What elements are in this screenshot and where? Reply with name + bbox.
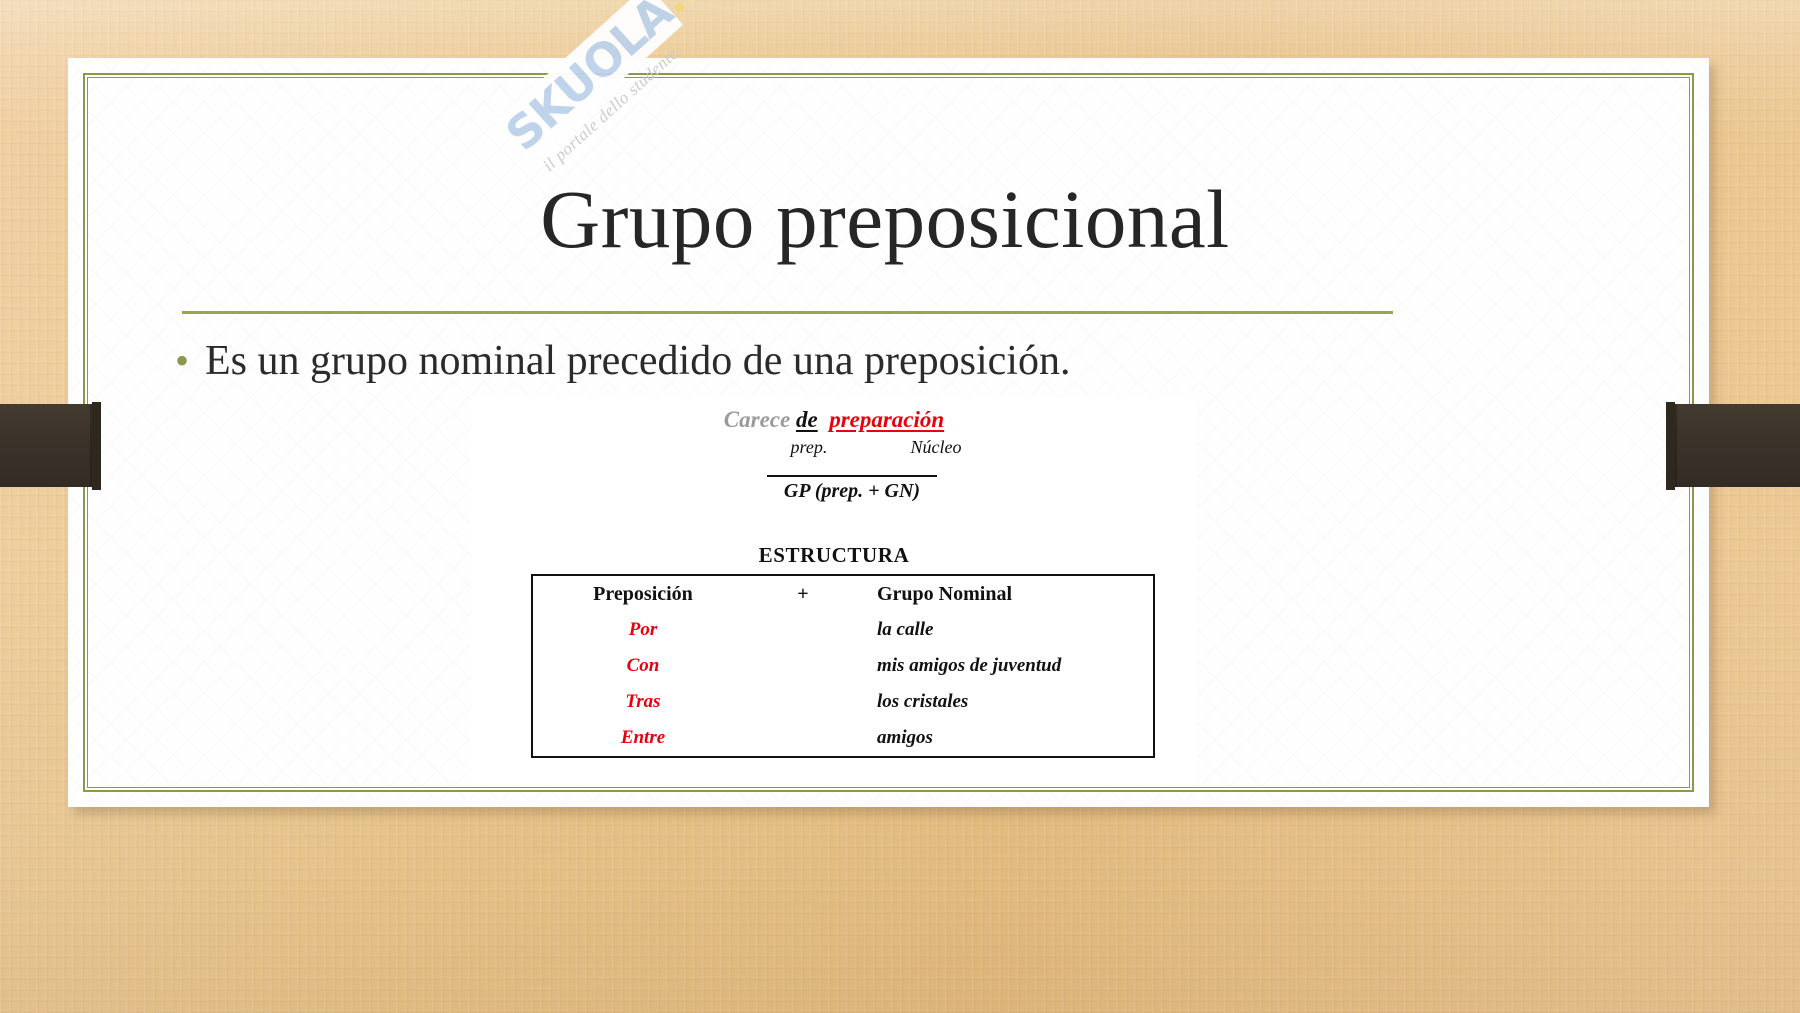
table-row: Con mis amigos de juventud	[532, 648, 1154, 684]
column-header-preposition: Preposición	[532, 575, 753, 612]
structure-table: Preposición + Grupo Nominal Por la calle…	[531, 574, 1155, 758]
cell-preposition: Con	[532, 648, 753, 684]
analysis-labels: prep.Núcleo	[471, 437, 1197, 458]
table-header-row: Preposición + Grupo Nominal	[532, 575, 1154, 612]
cell-noun-group: los cristales	[853, 684, 1154, 720]
page-title: Grupo preposicional	[195, 176, 1575, 263]
column-header-grupo-nominal: Grupo Nominal	[853, 575, 1154, 612]
table-row: Entre amigos	[532, 720, 1154, 757]
watermark-brand-net: net	[659, 0, 757, 13]
bullet-marker-icon: •	[175, 338, 189, 384]
column-header-plus: +	[753, 575, 853, 612]
watermark-brand-dot: .	[647, 0, 695, 25]
analysis-label-prep: prep.	[707, 437, 911, 458]
analysis-word-preposition: de	[796, 407, 818, 432]
slide-canvas: SKUOLA.net il portale dello studente Gru…	[0, 0, 1800, 1013]
sentence-analysis-block: Carece de preparación prep.Núcleo	[471, 407, 1197, 458]
cell-noun-group: amigos	[853, 720, 1154, 757]
bullet-item-text: Es un grupo nominal precedido de una pre…	[205, 336, 1070, 386]
cell-plus	[753, 720, 853, 757]
decorative-ribbon-left-tab	[92, 402, 101, 490]
analysis-bracket-line	[767, 475, 937, 477]
analysis-bracket-group: GP (prep. + GN)	[767, 475, 937, 503]
cell-plus	[753, 684, 853, 720]
decorative-ribbon-right-tab	[1666, 402, 1675, 490]
cell-plus	[753, 612, 853, 648]
title-underline-rule	[182, 311, 1393, 314]
embedded-diagram-image: Carece de preparación prep.Núcleo GP (pr…	[471, 397, 1197, 786]
decorative-ribbon-right	[1667, 404, 1800, 487]
cell-plus	[753, 648, 853, 684]
analysis-word-carece: Carece	[724, 407, 790, 432]
analysis-label-nucleus: Núcleo	[911, 437, 962, 458]
decorative-ribbon-left	[0, 404, 100, 487]
cell-noun-group: mis amigos de juventud	[853, 648, 1154, 684]
cell-noun-group: la calle	[853, 612, 1154, 648]
cell-preposition: Entre	[532, 720, 753, 757]
structure-table-body: Preposición + Grupo Nominal Por la calle…	[532, 575, 1154, 757]
table-row: Tras los cristales	[532, 684, 1154, 720]
bullet-list-item: • Es un grupo nominal precedido de una p…	[175, 336, 1475, 386]
structure-heading: ESTRUCTURA	[471, 543, 1197, 568]
analysis-sentence: Carece de preparación	[471, 407, 1197, 433]
analysis-bracket-label: GP (prep. + GN)	[767, 480, 937, 503]
analysis-word-nucleus: preparación	[829, 407, 944, 432]
cell-preposition: Por	[532, 612, 753, 648]
table-row: Por la calle	[532, 612, 1154, 648]
cell-preposition: Tras	[532, 684, 753, 720]
